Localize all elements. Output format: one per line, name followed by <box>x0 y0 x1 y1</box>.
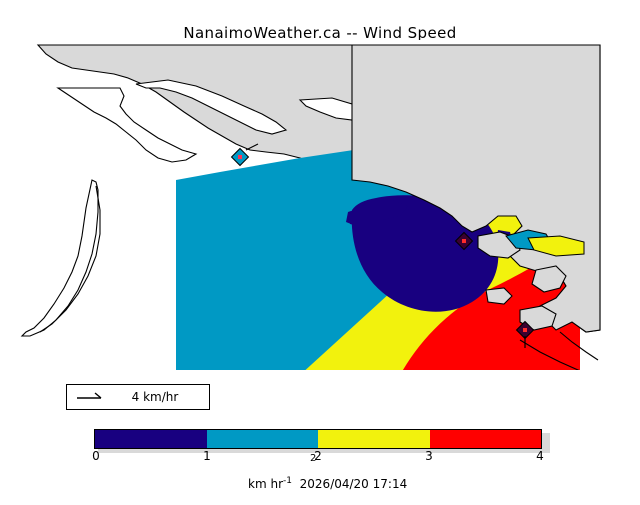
colorbar-segment-0 <box>95 430 207 448</box>
render-artifact-glyph: 2 <box>310 453 316 464</box>
colorbar-tick-3: 3 <box>425 449 433 463</box>
colorbar-segments <box>94 429 542 449</box>
wind-barb-icon <box>67 387 113 407</box>
colorbar-tick-4: 4 <box>536 449 544 463</box>
units-exponent: -1 <box>283 476 292 486</box>
timestamp-text: 2026/04/20 17:14 <box>300 477 408 491</box>
colorbar-tick-1: 1 <box>203 449 211 463</box>
wind-scale-legend: 4 km/hr <box>66 384 210 410</box>
colorbar-tick-0: 0 <box>92 449 100 463</box>
colorbar-segment-2 <box>318 430 430 448</box>
colorbar <box>94 429 546 449</box>
colorbar-segment-3 <box>430 430 542 448</box>
units-text: km hr <box>248 477 283 491</box>
colorbar-units-and-timestamp: km hr-1 2026/04/20 17:14 <box>0 462 640 505</box>
wind-scale-label: 4 km/hr <box>113 390 209 404</box>
map-canvas <box>0 40 640 370</box>
colorbar-segment-1 <box>207 430 319 448</box>
colorbar-tick-labels: 01234 <box>94 449 546 463</box>
weather-map-figure: NanaimoWeather.ca -- Wind Speed <box>0 0 640 480</box>
